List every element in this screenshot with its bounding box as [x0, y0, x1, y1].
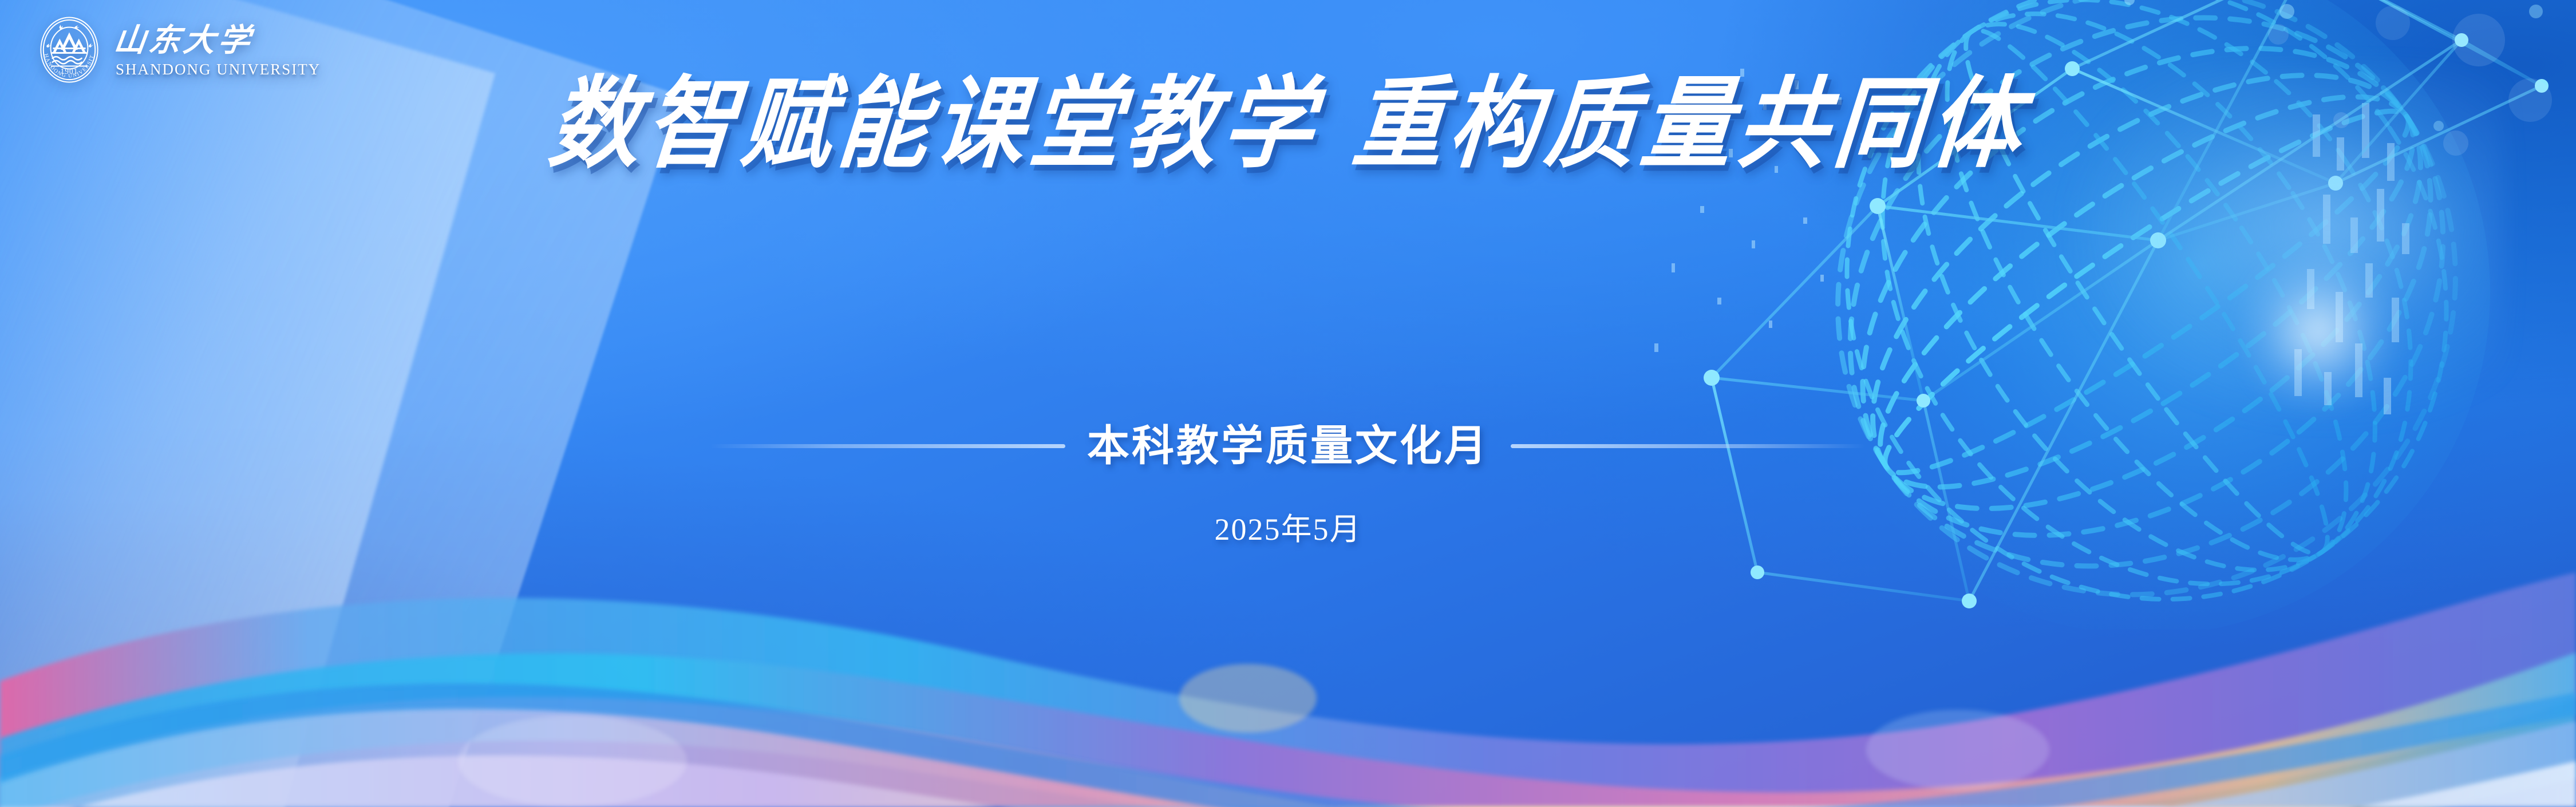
horizontal-rule-icon-right — [1511, 444, 1866, 448]
headline-part-2: 重构质量共同体 — [1348, 68, 2031, 183]
page-title: 数智赋能课堂教学重构质量共同体 — [0, 73, 2576, 177]
logo-name-cn: 山东大学 — [116, 22, 270, 60]
subtitle-row: 本科教学质量文化月 — [0, 425, 2576, 467]
event-date: 2025年5月 — [0, 514, 2576, 545]
subtitle-text: 本科教学质量文化月 — [1087, 425, 1489, 467]
logo-wordmark: 山东大学 SHANDONG UNIVERSITY — [116, 22, 321, 77]
svg-text:山东大学: 山东大学 — [116, 23, 256, 58]
event-banner: 1901 SHANDONG UNIVERSITY 山东大学 SHANDONG U… — [0, 0, 2576, 807]
headline-part-1: 数智赋能课堂教学 — [544, 68, 1323, 183]
iridescent-ribbon-waves-icon — [0, 509, 2576, 807]
horizontal-rule-icon-left — [710, 444, 1065, 448]
